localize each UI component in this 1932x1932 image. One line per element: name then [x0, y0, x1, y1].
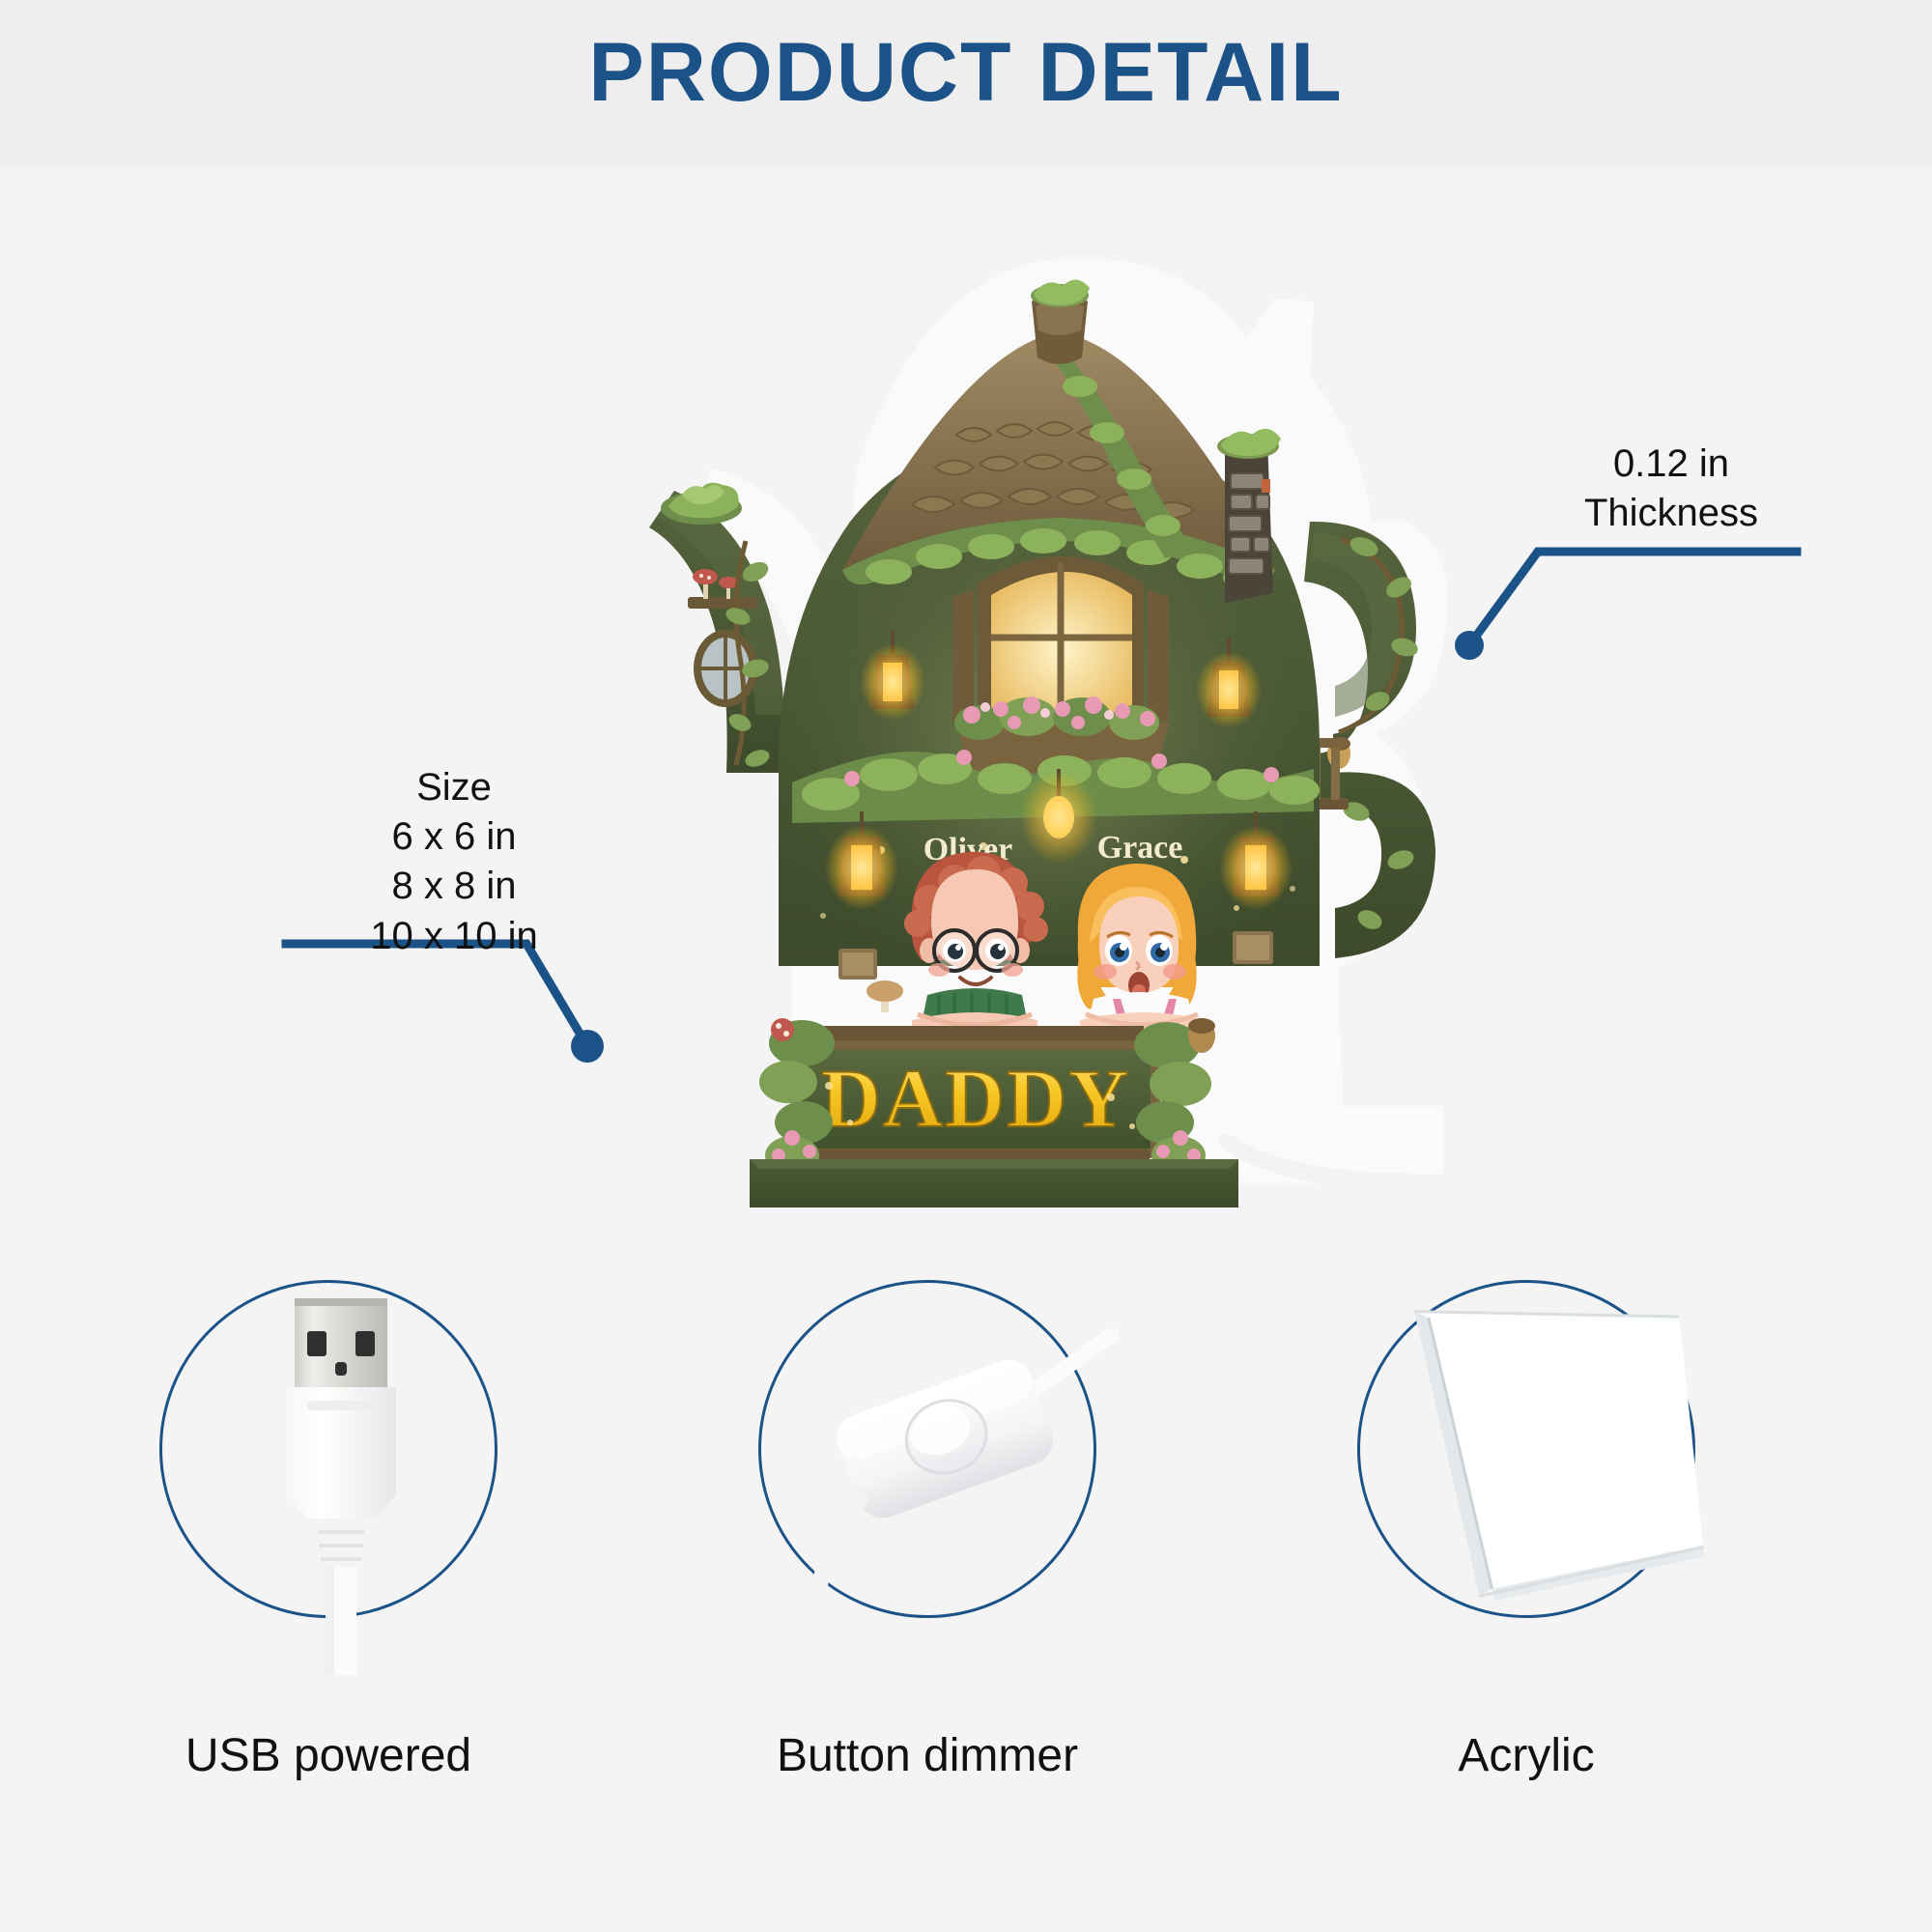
body-plaque-right — [1233, 931, 1273, 964]
inline-switch-icon — [703, 1225, 1157, 1679]
product-image: Oliver Grace — [502, 232, 1449, 1207]
feature-button-dimmer — [700, 1280, 1154, 1618]
name-sign: DADDY — [798, 1020, 1155, 1175]
usb-connector-icon — [104, 1225, 558, 1679]
page-title: PRODUCT DETAIL — [0, 25, 1932, 121]
sign-text: DADDY — [821, 1052, 1131, 1145]
feature-label-dimmer: Button dimmer — [700, 1729, 1154, 1782]
name-right-text: Grace — [1097, 830, 1183, 866]
acrylic-sheet-icon — [1302, 1225, 1756, 1679]
thickness-annotation: 0.12 in Thickness — [1546, 440, 1797, 538]
feature-label-acrylic: Acrylic — [1299, 1729, 1753, 1782]
feature-circle-acrylic — [1357, 1280, 1695, 1618]
body-plaque-left — [838, 949, 877, 980]
feature-label-usb: USB powered — [101, 1729, 555, 1782]
thickness-value: 0.12 in — [1546, 440, 1797, 489]
product-detail-page: PRODUCT DETAIL 0.12 in Thickness Size 6 … — [0, 0, 1932, 1932]
child-right-grace — [1077, 864, 1204, 1034]
feature-circle-usb — [159, 1280, 497, 1618]
upper-window — [952, 556, 1169, 773]
thickness-marker-dot — [1455, 631, 1484, 660]
thickness-label: Thickness — [1546, 489, 1797, 538]
chimney-top — [1031, 279, 1090, 364]
product-base — [750, 1159, 1238, 1207]
feature-usb-powered — [101, 1280, 555, 1618]
feature-circle-dimmer — [758, 1280, 1096, 1618]
feature-acrylic — [1299, 1280, 1753, 1618]
